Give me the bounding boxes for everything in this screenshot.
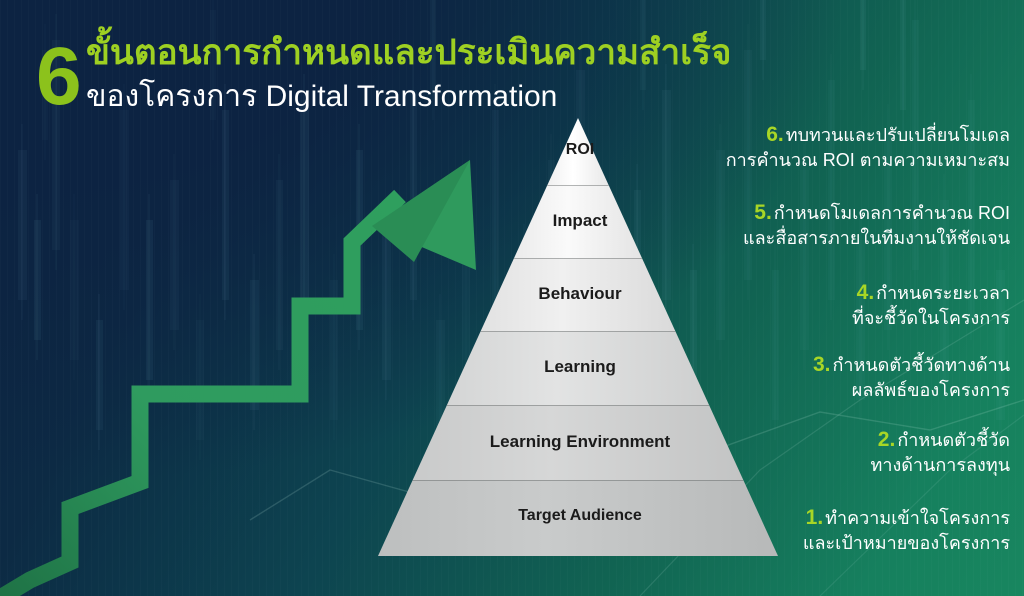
step-note-5: 5.กำหนดโมเดลการคำนวณ ROIและสื่อสารภายในท… [743, 200, 1010, 251]
step-line-1: กำหนดตัวชี้วัด [897, 430, 1010, 450]
step-number: 2. [878, 428, 896, 451]
step-line-1: กำหนดโมเดลการคำนวณ ROI [774, 203, 1010, 223]
title-text: ขั้นตอนการกำหนดและประเมินความสำเร็จ ของโ… [86, 30, 731, 118]
step-note-3: 3.กำหนดตัวชี้วัดทางด้านผลลัพธ์ของโครงการ [813, 352, 1010, 403]
pyramid-level-label: Learning Environment [490, 432, 670, 452]
pyramid-level-label: Behaviour [538, 284, 621, 304]
pyramid-level-2: Learning Environment [370, 432, 790, 452]
step-number: 3. [813, 353, 831, 376]
step-note-4: 4.กำหนดระยะเวลาที่จะชี้วัดในโครงการ [852, 280, 1010, 331]
step-number: 4. [857, 281, 875, 304]
step-number: 1. [806, 506, 824, 529]
step-note-6: 6.ทบทวนและปรับเปลี่ยนโมเดลการคำนวณ ROI ต… [726, 122, 1010, 173]
title-line-1: ขั้นตอนการกำหนดและประเมินความสำเร็จ [86, 30, 731, 76]
step-line-1: ทำความเข้าใจโครงการ [825, 508, 1010, 528]
pyramid-level-label: ROI [566, 141, 594, 159]
title-number: 6 [36, 36, 80, 118]
pyramid-level-label: Learning [544, 357, 616, 377]
pyramid-level-3: Learning [370, 357, 790, 377]
pyramid-level-label: Impact [553, 211, 608, 231]
step-line-2: ทางด้านการลงทุน [870, 453, 1010, 478]
step-line-1: ทบทวนและปรับเปลี่ยนโมเดล [786, 125, 1010, 145]
pyramid-level-label: Target Audience [518, 507, 642, 525]
step-line-2: และสื่อสารภายในทีมงานให้ชัดเจน [743, 226, 1010, 251]
step-line-2: ผลลัพธ์ของโครงการ [813, 378, 1010, 403]
step-number: 5. [754, 201, 772, 224]
step-line-2: และเป้าหมายของโครงการ [803, 531, 1010, 556]
step-note-1: 1.ทำความเข้าใจโครงการและเป้าหมายของโครงก… [803, 505, 1010, 556]
six-level-pyramid: ROIImpactBehaviourLearningLearning Envir… [370, 112, 790, 564]
step-line-2: การคำนวณ ROI ตามความเหมาะสม [726, 148, 1010, 173]
infographic-canvas: 6 ขั้นตอนการกำหนดและประเมินความสำเร็จ ขอ… [0, 0, 1024, 596]
step-note-2: 2.กำหนดตัวชี้วัดทางด้านการลงทุน [870, 427, 1010, 478]
step-line-1: กำหนดระยะเวลา [876, 283, 1010, 303]
step-line-2: ที่จะชี้วัดในโครงการ [852, 306, 1010, 331]
step-number: 6. [766, 123, 784, 146]
pyramid-level-4: Behaviour [370, 284, 790, 304]
pyramid-level-1: Target Audience [370, 507, 790, 525]
step-line-1: กำหนดตัวชี้วัดทางด้าน [832, 355, 1010, 375]
pyramid-level-5: Impact [370, 211, 790, 231]
